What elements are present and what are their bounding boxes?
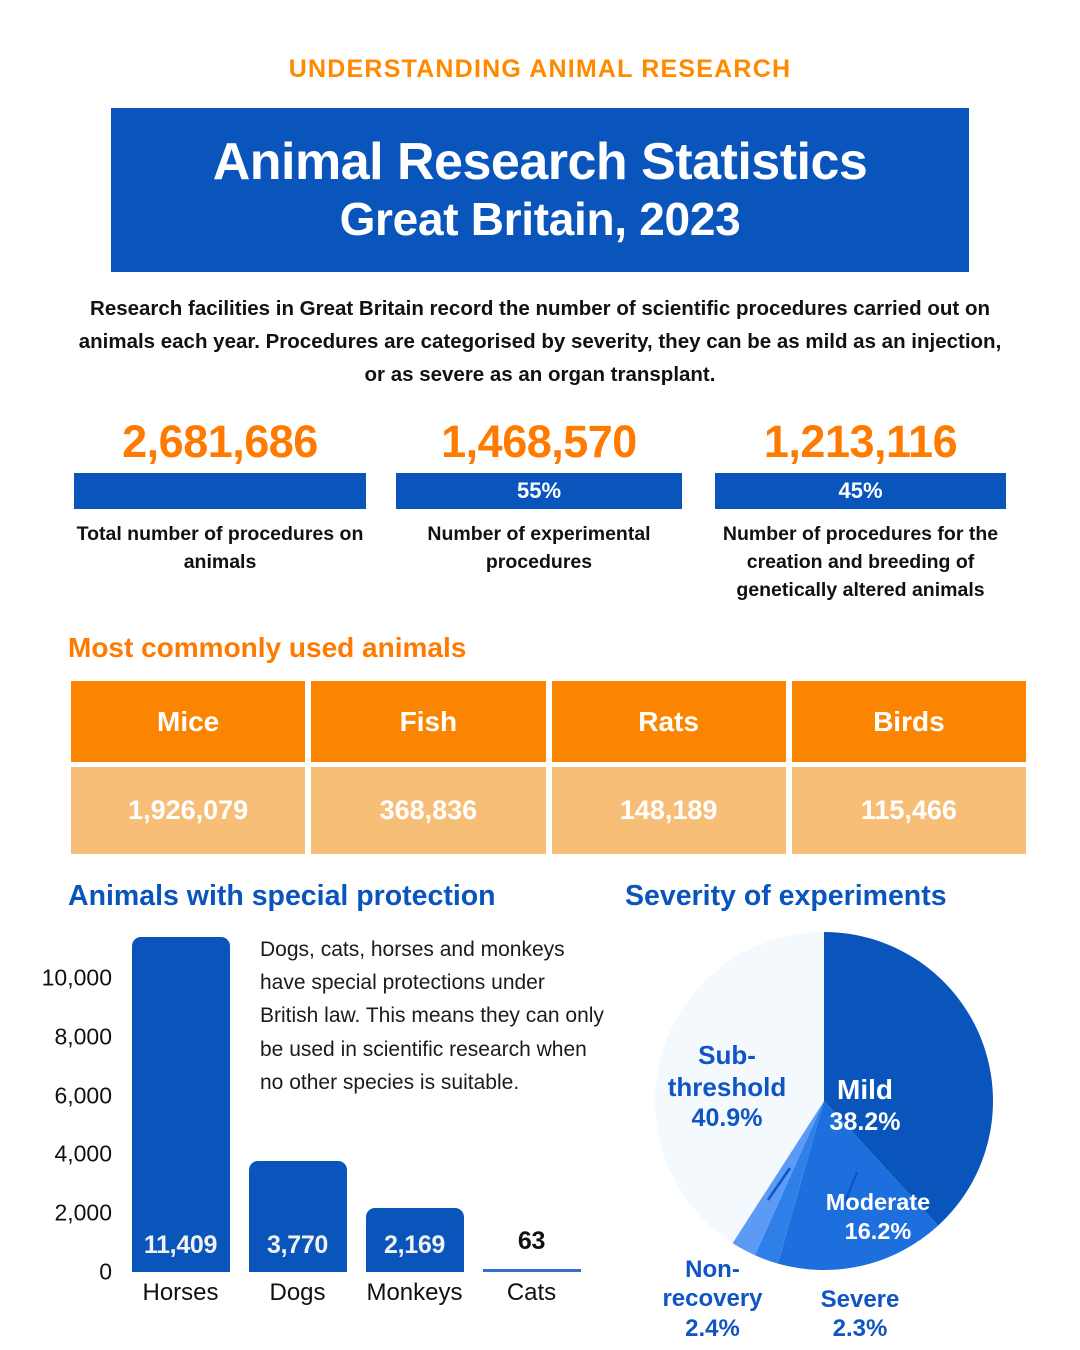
stat-label: Total number of procedures on animals	[74, 521, 366, 576]
pie-label-name: Sub-threshold	[668, 1040, 786, 1102]
bar-group: 11,409Horses	[132, 925, 230, 1272]
severity-section-heading: Severity of experiments	[625, 880, 947, 913]
pie-label-name: Mild	[837, 1074, 893, 1105]
stat-card-experimental: 1,468,570 55% Number of experimental pro…	[396, 418, 682, 577]
severity-pie-chart: Mild 38.2% Moderate 16.2% Sub-threshold …	[620, 915, 1080, 1350]
bar-category-label: Horses	[132, 1279, 230, 1307]
bar-horses	[132, 937, 230, 1273]
y-axis-tick-label: 0	[0, 1259, 112, 1286]
eyebrow-text: UNDERSTANDING ANIMAL RESEARCH	[0, 55, 1080, 84]
title-banner: Animal Research Statistics Great Britain…	[111, 108, 969, 272]
table-value-cell: 1,926,079	[71, 767, 305, 854]
stat-label: Number of procedures for the creation an…	[715, 521, 1006, 604]
table-value-cell: 115,466	[792, 767, 1026, 854]
table-column-mice: Mice 1,926,079	[71, 681, 305, 854]
pie-label-name: Non-recovery	[662, 1256, 762, 1312]
pie-label-value: 16.2%	[798, 1217, 958, 1246]
bar-value-label: 2,169	[366, 1231, 464, 1260]
stat-label: Number of experimental procedures	[396, 521, 682, 576]
pie-label-name: Moderate	[826, 1189, 930, 1215]
stat-number: 1,213,116	[715, 418, 1006, 465]
stat-bar: 55%	[396, 473, 682, 509]
pie-label-value: 40.9%	[652, 1103, 802, 1134]
pie-label-name: Severe	[821, 1286, 900, 1313]
table-header-cell: Rats	[552, 681, 786, 762]
pie-label-mild: Mild 38.2%	[795, 1073, 935, 1138]
table-value-cell: 148,189	[552, 767, 786, 854]
stat-bar: 45%	[715, 473, 1006, 509]
page-subtitle: Great Britain, 2023	[340, 192, 741, 247]
table-value-cell: 368,836	[311, 767, 545, 854]
protection-section-heading: Animals with special protection	[68, 880, 496, 913]
y-axis-tick-label: 6,000	[0, 1082, 112, 1109]
y-axis-tick-label: 10,000	[0, 964, 112, 991]
stat-percent: 55%	[517, 478, 561, 504]
pie-label-value: 2.3%	[795, 1314, 925, 1343]
pie-label-value: 2.4%	[640, 1314, 785, 1343]
bar-category-label: Monkeys	[366, 1279, 464, 1307]
bar-chart-y-axis: 02,0004,0006,0008,00010,000	[0, 925, 112, 1275]
y-axis-tick-label: 4,000	[0, 1141, 112, 1168]
table-header-cell: Mice	[71, 681, 305, 762]
pie-label-nonrecovery: Non-recovery 2.4%	[640, 1255, 785, 1343]
headline-stats: 2,681,686 Total number of procedures on …	[74, 418, 1006, 618]
stat-number: 2,681,686	[74, 418, 366, 465]
table-column-rats: Rats 148,189	[552, 681, 786, 854]
infographic-page: UNDERSTANDING ANIMAL RESEARCH Animal Res…	[0, 0, 1080, 1350]
bar-category-label: Dogs	[249, 1279, 347, 1307]
stat-percent: 45%	[838, 478, 882, 504]
table-column-birds: Birds 115,466	[792, 681, 1026, 854]
bar-cats	[483, 1269, 581, 1272]
pie-label-value: 38.2%	[795, 1107, 935, 1138]
table-header-cell: Birds	[792, 681, 1026, 762]
stat-card-total: 2,681,686 Total number of procedures on …	[74, 418, 366, 577]
table-header-cell: Fish	[311, 681, 545, 762]
animals-section-heading: Most commonly used animals	[68, 632, 466, 664]
bar-value-label: 63	[483, 1227, 581, 1256]
stat-card-breeding: 1,213,116 45% Number of procedures for t…	[715, 418, 1006, 604]
y-axis-tick-label: 8,000	[0, 1023, 112, 1050]
intro-paragraph: Research facilities in Great Britain rec…	[68, 292, 1012, 392]
pie-label-moderate: Moderate 16.2%	[798, 1188, 958, 1245]
y-axis-tick-label: 2,000	[0, 1200, 112, 1227]
bar-category-label: Cats	[483, 1279, 581, 1307]
stat-bar	[74, 473, 366, 509]
bar-value-label: 11,409	[132, 1231, 230, 1260]
animals-table: Mice 1,926,079 Fish 368,836 Rats 148,189…	[71, 681, 1026, 854]
stat-number: 1,468,570	[396, 418, 682, 465]
pie-label-severe: Severe 2.3%	[795, 1285, 925, 1344]
protection-note: Dogs, cats, horses and monkeys have spec…	[260, 933, 605, 1099]
pie-label-subthreshold: Sub-threshold 40.9%	[652, 1040, 802, 1134]
bar-value-label: 3,770	[249, 1231, 347, 1260]
page-title: Animal Research Statistics	[213, 133, 868, 191]
table-column-fish: Fish 368,836	[311, 681, 545, 854]
